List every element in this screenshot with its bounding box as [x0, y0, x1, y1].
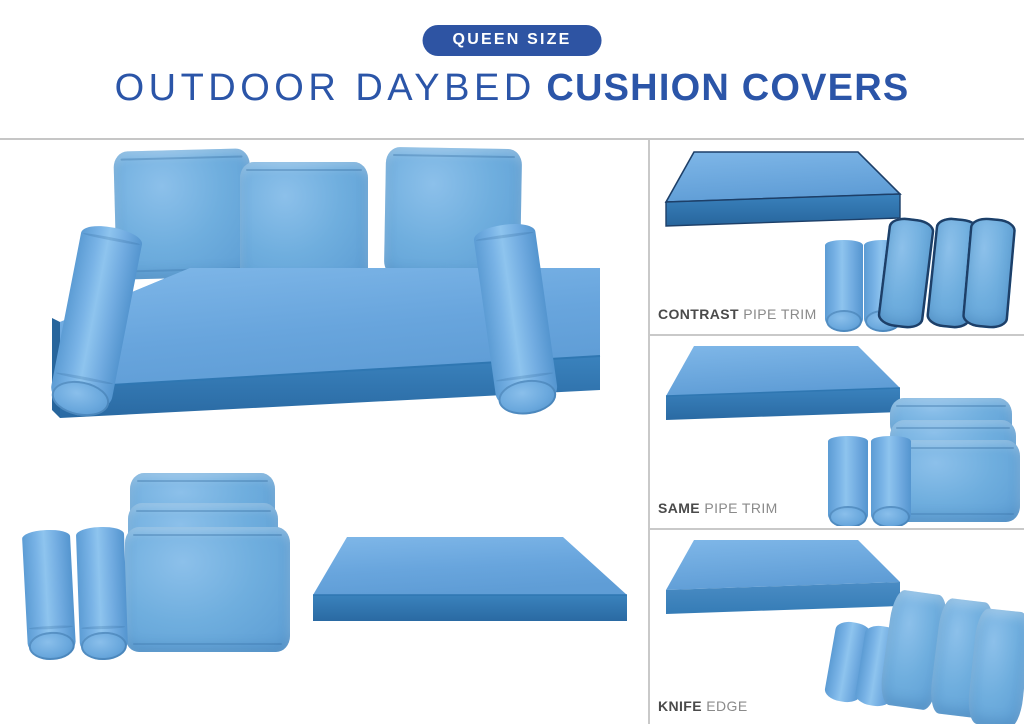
panel-same-pipe-trim: SAME PIPE TRIM: [650, 336, 1024, 526]
page-title-bold: CUSHION COVERS: [546, 67, 909, 109]
label-bold: CONTRAST: [658, 306, 739, 322]
pillow-seam: [896, 427, 1009, 429]
pillow-seam: [137, 480, 268, 482]
pillow-seam: [120, 155, 242, 160]
queen-size-badge: QUEEN SIZE: [423, 25, 602, 56]
mattress-contrast: [658, 146, 908, 251]
pillow-seam: [896, 405, 1006, 407]
pillow-seam: [897, 513, 1014, 515]
pillow-seam: [133, 643, 282, 645]
label-same-pipe-trim: SAME PIPE TRIM: [658, 500, 778, 516]
main-daybed-scene: [30, 140, 630, 450]
page-title: OUTDOOR DAYBED CUSHION COVERS: [0, 66, 1024, 110]
mattress-same: [658, 340, 908, 445]
bolster-2: [76, 526, 128, 656]
panel-contrast-pipe-trim: CONTRAST PIPE TRIM: [650, 142, 1024, 332]
bolster-same-1: [828, 436, 868, 524]
pillow-seam: [133, 534, 282, 536]
pillow-seam: [393, 154, 515, 158]
cushion-set-scene: [20, 465, 320, 695]
mattress-knife: [658, 534, 908, 639]
bolster-same-2: [871, 436, 911, 524]
label-contrast-pipe-trim: CONTRAST PIPE TRIM: [658, 306, 817, 322]
panel-knife-edge: KNIFE EDGE: [650, 530, 1024, 724]
label-rest: EDGE: [706, 698, 747, 714]
pillow-contrast-3: [961, 216, 1016, 330]
label-rest: PIPE TRIM: [704, 500, 777, 516]
bolster-end-cap: [81, 631, 127, 661]
bolster-end-cap: [826, 310, 862, 332]
label-knife-edge: KNIFE EDGE: [658, 698, 748, 714]
infographic-page: QUEEN SIZE OUTDOOR DAYBED CUSHION COVERS: [0, 0, 1024, 724]
mattress-standalone-scene: [305, 525, 635, 650]
bolster-end-cap: [872, 506, 910, 526]
pillow-seam: [246, 169, 361, 171]
bolster-contrast-1: [825, 240, 863, 328]
bolster-end-cap: [829, 506, 867, 526]
pillow-seam: [136, 510, 271, 512]
header: QUEEN SIZE OUTDOOR DAYBED CUSHION COVERS: [0, 0, 1024, 138]
label-bold: SAME: [658, 500, 700, 516]
label-bold: KNIFE: [658, 698, 702, 714]
page-title-thin: OUTDOOR DAYBED: [115, 67, 536, 109]
bolster-1: [22, 529, 76, 656]
pillow-seam: [897, 447, 1014, 449]
label-rest: PIPE TRIM: [743, 306, 816, 322]
mattress-standalone: [305, 525, 635, 650]
bolster-end-cap: [29, 631, 76, 661]
pillow-front: [125, 527, 290, 652]
